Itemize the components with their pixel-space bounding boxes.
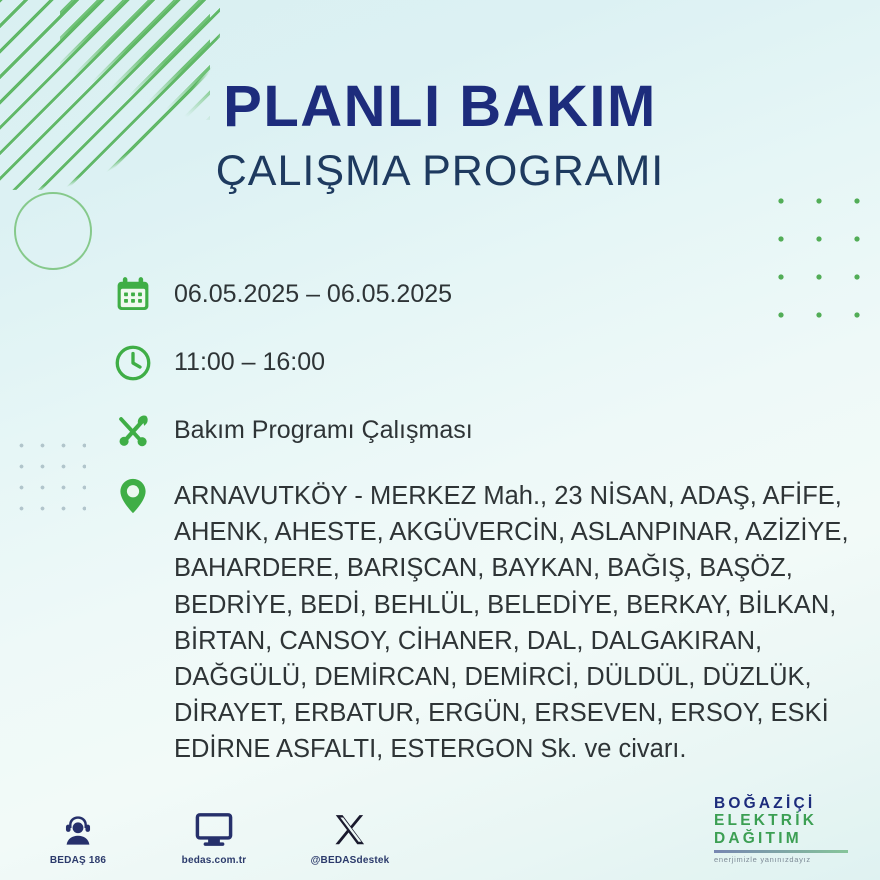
footer-label-x-handle: @BEDASdestek: [308, 855, 392, 866]
footer-item-call-center[interactable]: BEDAŞ 186: [36, 805, 120, 866]
date-range-value: 06.05.2025 – 06.05.2025: [174, 272, 452, 310]
circle-outline-decoration: [14, 192, 92, 270]
detail-row-address: ARNAVUTKÖY - MERKEZ Mah., 23 NİSAN, ADAŞ…: [112, 476, 850, 768]
footer-label-call-center: BEDAŞ 186: [36, 855, 120, 866]
detail-row-work-type: Bakım Programı Çalışması: [112, 408, 850, 454]
maintenance-details: 06.05.2025 – 06.05.2025 11:00 – 16:00: [112, 272, 850, 768]
calendar-icon: [112, 272, 174, 318]
detail-row-date: 06.05.2025 – 06.05.2025: [112, 272, 850, 318]
footer-contacts: BEDAŞ 186 bedas.com.tr @BEDASdestek: [36, 805, 392, 866]
time-range-value: 11:00 – 16:00: [174, 340, 325, 378]
logo-line-elektrik: ELEKTRİK: [714, 812, 864, 829]
footer-item-website[interactable]: bedas.com.tr: [172, 805, 256, 866]
logo-line-bogazici: BOĞAZİÇİ: [714, 795, 864, 812]
x-twitter-icon: [308, 805, 392, 849]
poster-header: PLANLI BAKIM ÇALIŞMA PROGRAMI: [0, 78, 880, 193]
tools-icon: [112, 408, 174, 454]
support-agent-icon: [36, 805, 120, 849]
planned-maintenance-poster: PLANLI BAKIM ÇALIŞMA PROGRAMI: [0, 0, 880, 880]
page-subtitle: ÇALIŞMA PROGRAMI: [0, 150, 880, 193]
work-type-value: Bakım Programı Çalışması: [174, 408, 473, 446]
bedas-logo: BOĞAZİÇİ ELEKTRİK DAĞITIM enerjimizle ya…: [714, 795, 864, 864]
logo-divider: [714, 850, 848, 853]
location-pin-icon: [112, 476, 174, 516]
footer-label-website: bedas.com.tr: [172, 855, 256, 866]
logo-tagline: enerjimizle yanınızdayız: [714, 855, 864, 864]
monitor-icon: [172, 805, 256, 849]
page-title: PLANLI BAKIM: [0, 78, 880, 136]
address-value: ARNAVUTKÖY - MERKEZ Mah., 23 NİSAN, ADAŞ…: [174, 476, 850, 768]
detail-row-time: 11:00 – 16:00: [112, 340, 850, 386]
clock-icon: [112, 340, 174, 386]
footer-item-x-handle[interactable]: @BEDASdestek: [308, 805, 392, 866]
logo-line-dagitim: DAĞITIM: [714, 830, 864, 847]
dot-grid-decoration-left: [8, 432, 86, 518]
